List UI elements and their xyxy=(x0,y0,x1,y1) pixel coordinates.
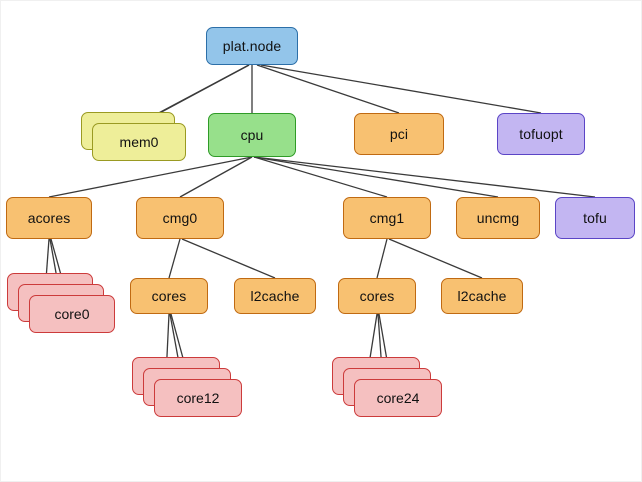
node-label-l2cache-cmg0: l2cache xyxy=(251,289,300,303)
node-label-pci: pci xyxy=(390,127,408,141)
node-layer: plat.nodemem0cpupcitofuoptacorescmg0cmg1… xyxy=(1,1,642,482)
node-label-plat-node: plat.node xyxy=(223,39,282,53)
node-l2cache-cmg1[interactable]: l2cache xyxy=(441,278,523,314)
node-label-uncmg: uncmg xyxy=(477,211,520,225)
node-label-core0: core0 xyxy=(54,307,89,321)
node-stack-core24[interactable]: core24 xyxy=(332,357,442,417)
node-cpu[interactable]: cpu xyxy=(208,113,296,157)
node-cmg1[interactable]: cmg1 xyxy=(343,197,431,239)
node-label-acores: acores xyxy=(28,211,71,225)
node-core0[interactable]: core0 xyxy=(29,295,115,333)
node-l2cache-cmg0[interactable]: l2cache xyxy=(234,278,316,314)
node-uncmg[interactable]: uncmg xyxy=(456,197,540,239)
node-core12[interactable]: core12 xyxy=(154,379,242,417)
node-label-cmg1: cmg1 xyxy=(370,211,405,225)
node-label-core12: core12 xyxy=(177,391,220,405)
node-stack-core12[interactable]: core12 xyxy=(132,357,242,417)
node-label-l2cache-cmg1: l2cache xyxy=(458,289,507,303)
node-label-mem0: mem0 xyxy=(120,135,159,149)
node-mem0[interactable]: mem0 xyxy=(92,123,186,161)
node-label-cores-cmg1: cores xyxy=(360,289,395,303)
node-pci[interactable]: pci xyxy=(354,113,444,155)
node-label-cores-cmg0: cores xyxy=(152,289,187,303)
node-plat-node[interactable]: plat.node xyxy=(206,27,298,65)
node-cores-cmg0[interactable]: cores xyxy=(130,278,208,314)
node-acores[interactable]: acores xyxy=(6,197,92,239)
node-label-cpu: cpu xyxy=(241,128,264,142)
node-stack-core0[interactable]: core0 xyxy=(7,273,115,333)
topology-diagram: plat.nodemem0cpupcitofuoptacorescmg0cmg1… xyxy=(0,0,642,482)
node-core24[interactable]: core24 xyxy=(354,379,442,417)
node-cores-cmg1[interactable]: cores xyxy=(338,278,416,314)
node-tofu[interactable]: tofu xyxy=(555,197,635,239)
node-label-tofuopt: tofuopt xyxy=(519,127,563,141)
node-label-core24: core24 xyxy=(377,391,420,405)
node-label-cmg0: cmg0 xyxy=(163,211,198,225)
node-stack-mem0[interactable]: mem0 xyxy=(81,112,186,161)
node-cmg0[interactable]: cmg0 xyxy=(136,197,224,239)
node-tofuopt[interactable]: tofuopt xyxy=(497,113,585,155)
node-label-tofu: tofu xyxy=(583,211,607,225)
